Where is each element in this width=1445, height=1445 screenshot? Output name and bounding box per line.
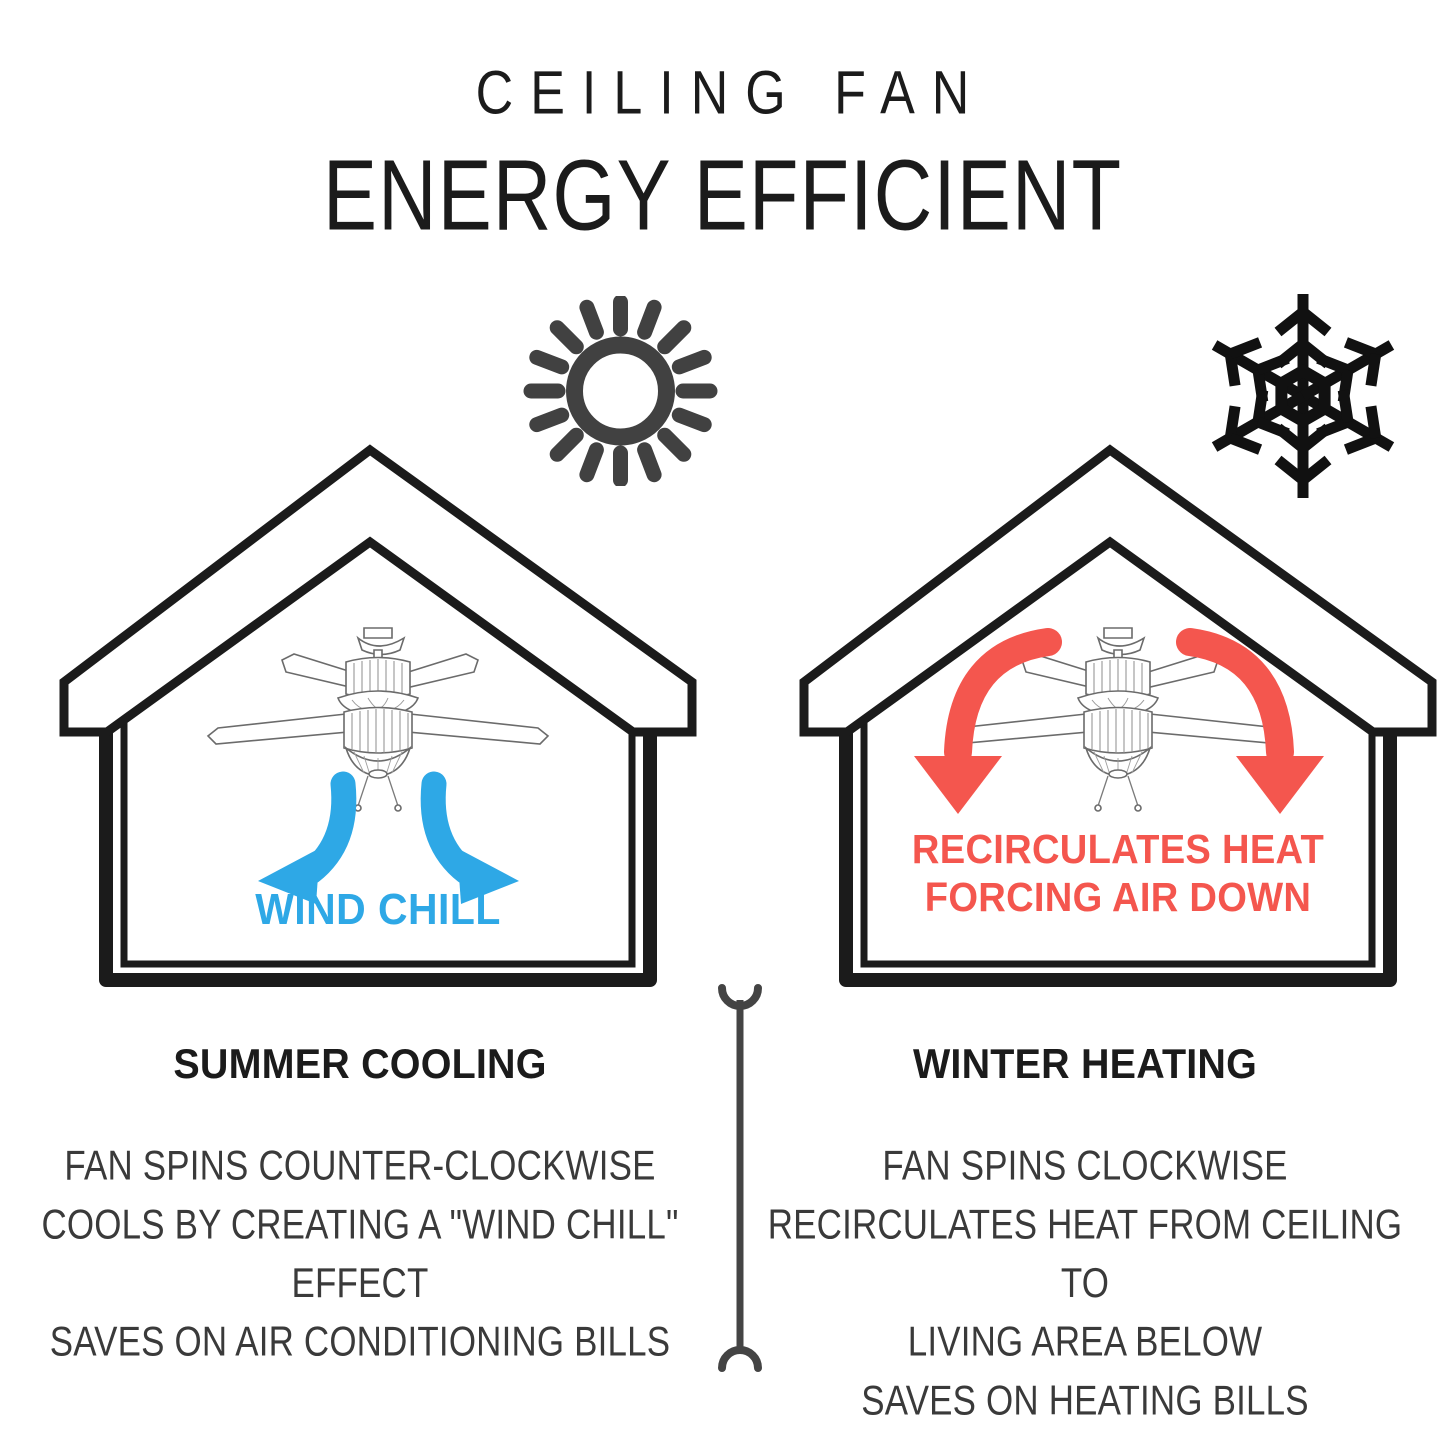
- house-caption-summer: WIND CHILL: [80, 884, 675, 935]
- column-body-winter: FAN SPINS CLOCKWISE RECIRCULATES HEAT FR…: [765, 1136, 1405, 1430]
- column-body-summer: FAN SPINS COUNTER-CLOCKWISE COOLS BY CRE…: [40, 1136, 680, 1371]
- infographic-canvas: CEILING FAN ENERGY EFFICIENT: [0, 0, 1445, 1445]
- house-caption-winter: RECIRCULATES HEAT FORCING AIR DOWN: [820, 826, 1415, 921]
- column-title-winter: WINTER HEATING: [775, 1040, 1395, 1088]
- column-winter: WINTER HEATING FAN SPINS CLOCKWISE RECIR…: [755, 1040, 1415, 1392]
- column-title-summer: SUMMER COOLING: [50, 1040, 670, 1088]
- column-summer: SUMMER COOLING FAN SPINS COUNTER-CLOCKWI…: [30, 1040, 690, 1340]
- page-title: ENERGY EFFICIENT: [7, 139, 1438, 254]
- eyebrow-title: CEILING FAN: [0, 58, 1445, 129]
